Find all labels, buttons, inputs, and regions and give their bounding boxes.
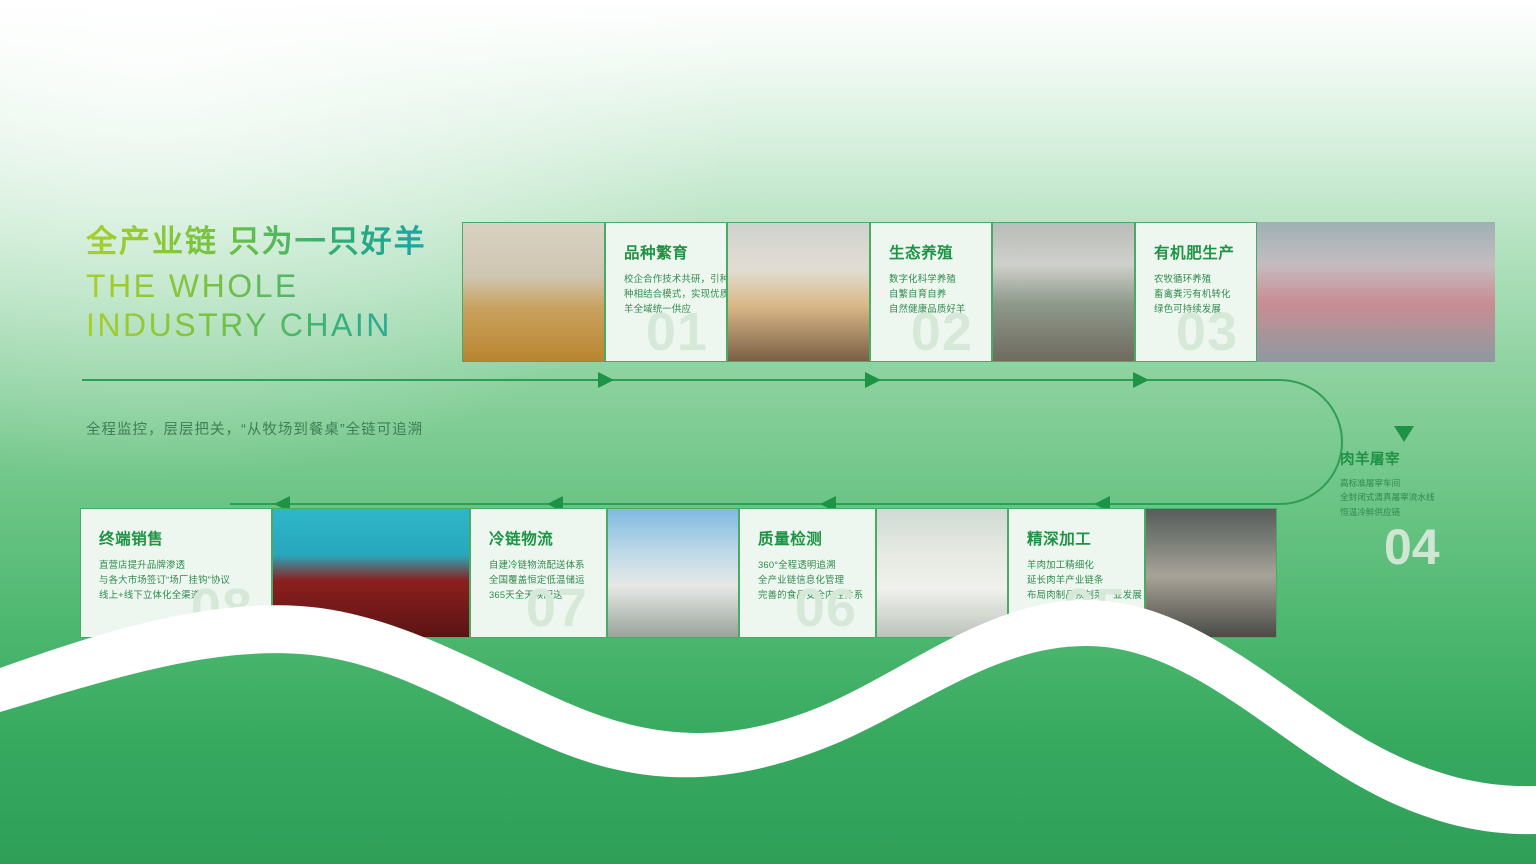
tagline-text: 全程监控，层层把关，“从牧场到餐桌”全链可追溯	[86, 418, 423, 439]
process-card-02[interactable]: 生态养殖 数字化科学养殖 自繁自育自养 自然健康品质好羊 02	[727, 222, 992, 362]
infographic-canvas: 全产业链 只为一只好羊 THE WHOLE INDUSTRY CHAIN 全程监…	[0, 0, 1536, 864]
top-row-strip: 品种繁育 校企合作技术共研，引种育 种相结合模式，实现优质羔 羊全域统一供应 0…	[462, 222, 1495, 362]
sheep-barn-photo	[727, 222, 870, 362]
card-04-title: 肉羊屠宰	[1340, 448, 1500, 469]
card-01-title: 品种繁育	[624, 241, 712, 263]
card-04-lines: 高标准屠宰车间 全封闭式清真屠宰流水线 恒温冷鲜供应链	[1340, 476, 1500, 519]
card-07-title: 冷链物流	[489, 527, 592, 549]
card-03-line-2: 畜禽粪污有机转化	[1154, 286, 1242, 301]
lambs-in-pen-photo	[462, 222, 605, 362]
title-block: 全产业链 只为一只好羊 THE WHOLE INDUSTRY CHAIN	[86, 222, 506, 345]
flow-line-uturn	[1280, 380, 1342, 504]
card-01-line-1: 校企合作技术共研，引种育	[624, 271, 712, 286]
page-title-en: THE WHOLE INDUSTRY CHAIN	[86, 267, 506, 345]
card-08-title: 终端销售	[99, 527, 257, 549]
process-card-01[interactable]: 品种繁育 校企合作技术共研，引种育 种相结合模式，实现优质羔 羊全域统一供应 0…	[462, 222, 727, 362]
card-05-line-1: 羊肉加工精细化	[1027, 557, 1130, 572]
card-04-line-1: 高标准屠宰车间	[1340, 476, 1500, 490]
card-06-title: 质量检测	[758, 527, 861, 549]
flow-arrow-right-group	[598, 372, 1149, 388]
process-card-03[interactable]: 有机肥生产 农牧循环养殖 畜禽粪污有机转化 绿色可持续发展 03	[992, 222, 1257, 362]
card-04-line-3: 恒温冷鲜供应链	[1340, 505, 1500, 519]
card-04-number: 04	[1384, 522, 1440, 572]
card-02-line-1: 数字化科学养殖	[889, 271, 977, 286]
card-02-text-pane: 生态养殖 数字化科学养殖 自繁自育自养 自然健康品质好羊 02	[870, 222, 992, 362]
slaughterhouse-line-photo	[1257, 222, 1495, 362]
flow-arrow-down	[1394, 426, 1414, 442]
card-07-line-1: 自建冷链物流配送体系	[489, 557, 592, 572]
card-08-line-1: 直营店提升品牌渗透	[99, 557, 257, 572]
card-03-number: 03	[1176, 305, 1238, 359]
decorative-wave	[0, 584, 1536, 864]
card-03-line-1: 农牧循环养殖	[1154, 271, 1242, 286]
page-title-cn: 全产业链 只为一只好羊	[86, 222, 506, 262]
card-03-title: 有机肥生产	[1154, 241, 1242, 263]
card-02-line-2: 自繁自育自养	[889, 286, 977, 301]
card-01-number: 01	[646, 305, 708, 359]
card-03-text-pane: 有机肥生产 农牧循环养殖 畜禽粪污有机转化 绿色可持续发展 03	[1135, 222, 1257, 362]
card-05-title: 精深加工	[1027, 527, 1130, 549]
card-04-line-2: 全封闭式清真屠宰流水线	[1340, 490, 1500, 504]
page-title-en-line2: INDUSTRY CHAIN	[86, 306, 506, 345]
card-02-title: 生态养殖	[889, 241, 977, 263]
card-06-line-1: 360°全程透明追溯	[758, 557, 861, 572]
card-02-number: 02	[911, 305, 973, 359]
organic-fertilizer-machine-photo	[992, 222, 1135, 362]
card-01-line-2: 种相结合模式，实现优质羔	[624, 286, 712, 301]
card-01-text-pane: 品种繁育 校企合作技术共研，引种育 种相结合模式，实现优质羔 羊全域统一供应 0…	[605, 222, 727, 362]
page-title-en-line1: THE WHOLE	[86, 268, 299, 304]
